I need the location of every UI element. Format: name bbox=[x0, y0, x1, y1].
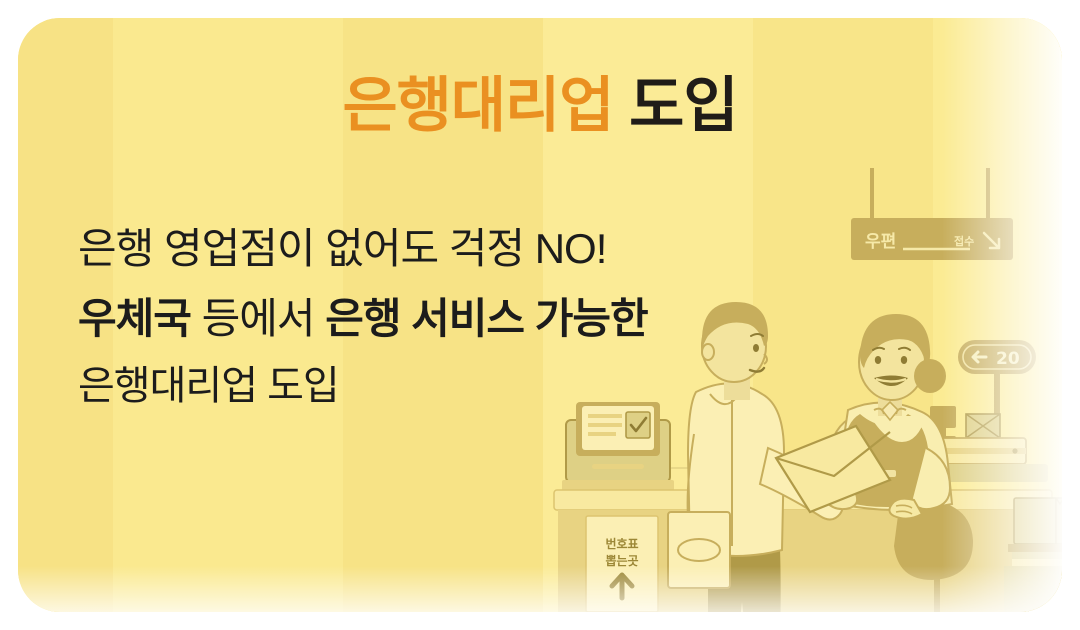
copy-line-2-normal: 등에서 bbox=[202, 295, 315, 342]
svg-text:접수: 접수 bbox=[954, 235, 974, 248]
title-plain: 도입 bbox=[629, 72, 737, 139]
body-copy: 은행 영업점이 없어도 걱정 NO! 우체국 등에서 은행 서비스 가능한 은행… bbox=[78, 228, 648, 406]
svg-text:우편: 우편 bbox=[865, 232, 896, 252]
ticket-dispenser-sign: 번호표 뽑는곳 bbox=[586, 516, 658, 612]
svg-text:20: 20 bbox=[996, 349, 1020, 369]
overhead-sign-group: 우편 접수 bbox=[851, 168, 1013, 260]
promo-banner: .lt { fill:#fbefb4; } .lt2 { fill:#f8e9a… bbox=[0, 0, 1080, 630]
copy-line-2-bold-a: 우체국 bbox=[78, 295, 191, 342]
copy-line-2-bold-b: 은행 서비스 가능한 bbox=[325, 295, 647, 342]
counter-number-sign-group: 20 bbox=[958, 340, 1036, 425]
copy-line-2: 우체국 등에서 은행 서비스 가능한 bbox=[78, 298, 648, 340]
title-highlight: 은행대리업 bbox=[342, 72, 613, 139]
svg-text:번호표: 번호표 bbox=[605, 536, 638, 551]
copy-line-3: 은행대리업 도입 bbox=[78, 366, 648, 406]
copy-line-1: 은행 영업점이 없어도 걱정 NO! bbox=[78, 228, 648, 270]
svg-text:뽑는곳: 뽑는곳 bbox=[605, 553, 638, 568]
page-title: 은행대리업 도입 bbox=[0, 74, 1080, 137]
document-terminal bbox=[562, 402, 674, 492]
